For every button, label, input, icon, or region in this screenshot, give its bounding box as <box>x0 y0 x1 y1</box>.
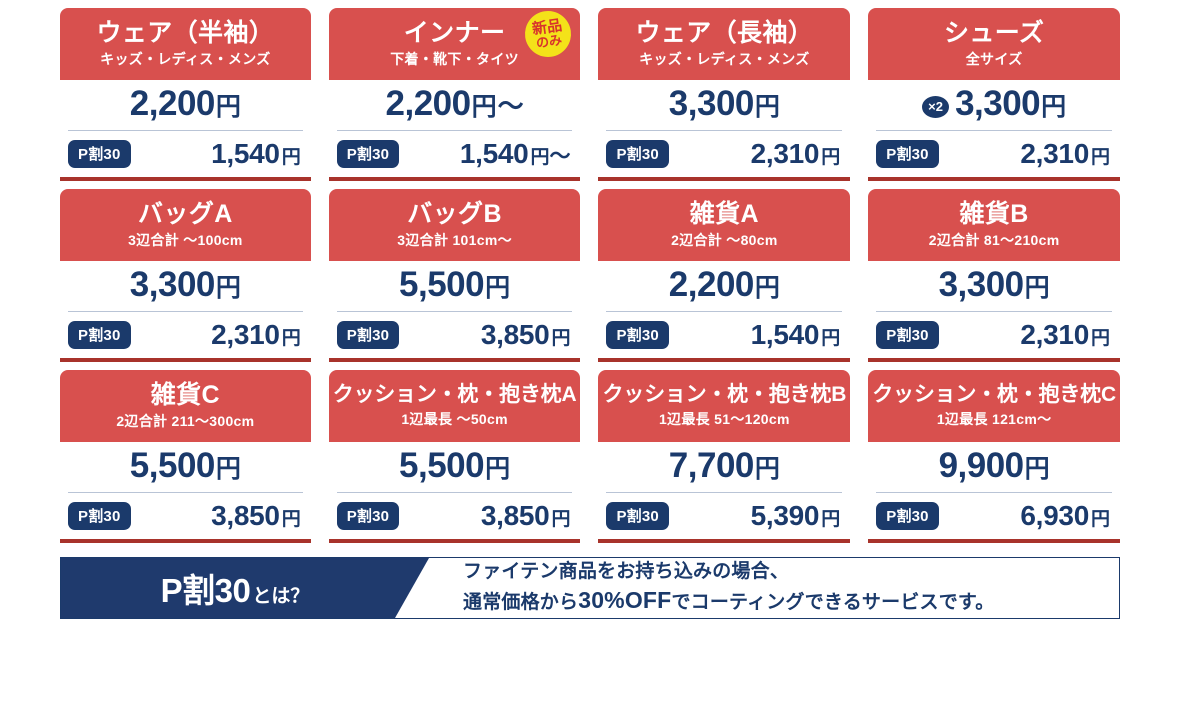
discount-price-currency: 円 <box>1091 323 1110 350</box>
price-card[interactable]: ウェア（半袖）キッズ・レディス・メンズ2,200円P割301,540円 <box>60 8 311 181</box>
regular-price-currency: 円 <box>1025 449 1050 485</box>
discount-price-currency: 円 <box>530 142 549 169</box>
price-card-subtitle: 2辺合計 〜80cm <box>671 232 777 249</box>
discount-price-row: P割301,540円 <box>66 131 305 176</box>
regular-price-amount: 2,200 <box>386 84 471 124</box>
p30-line2-post: でコーティングできるサービスです。 <box>671 592 994 613</box>
p30-pill-badge: P割30 <box>606 140 669 168</box>
discount-price-amount: 5,390 <box>751 500 820 532</box>
discount-price-row: P割302,310円 <box>874 131 1114 176</box>
price-card-bottom-rule <box>868 358 1120 362</box>
price-card-body: 5,500円P割303,850円 <box>329 261 581 357</box>
regular-price-currency: 円 <box>216 268 241 304</box>
price-card[interactable]: ウェア（長袖）キッズ・レディス・メンズ3,300円P割302,310円 <box>598 8 850 181</box>
discount-price-amount: 2,310 <box>1020 319 1089 351</box>
p30-pill-badge: P割30 <box>337 502 400 530</box>
discount-price-amount: 3,850 <box>481 319 550 351</box>
price-card-bottom-rule <box>598 358 850 362</box>
regular-price-row: 2,200円 <box>604 265 844 310</box>
price-card-header: バッグA3辺合計 〜100cm <box>60 189 311 261</box>
regular-price-currency: 円 <box>472 87 497 123</box>
price-card[interactable]: クッション・枕・抱き枕B1辺最長 51〜120cm7,700円P割305,390… <box>598 370 850 543</box>
discount-price-currency: 円 <box>551 504 570 531</box>
discount-price-value: 1,540円 <box>751 319 843 351</box>
discount-price-currency: 円 <box>551 323 570 350</box>
price-card-title: 雑貨A <box>690 200 759 228</box>
price-card[interactable]: 雑貨C2辺合計 211〜300cm5,500円P割303,850円 <box>60 370 311 543</box>
price-card-bottom-rule <box>598 177 850 181</box>
price-card-header: クッション・枕・抱き枕B1辺最長 51〜120cm <box>598 370 850 442</box>
regular-price-amount: 3,300 <box>130 265 215 305</box>
price-card-body: 9,900円P割306,930円 <box>868 442 1120 538</box>
discount-price-value: 6,930円 <box>1020 500 1112 532</box>
price-card-subtitle: 1辺最長 〜50cm <box>401 411 507 428</box>
regular-price-row: 3,300円 <box>66 265 305 310</box>
price-card-bottom-rule <box>868 539 1120 543</box>
regular-price-currency: 円 <box>1041 87 1066 123</box>
discount-price-row: P割303,850円 <box>335 312 575 357</box>
price-card[interactable]: インナー下着・靴下・タイツ新品のみ2,200円〜P割301,540円〜 <box>329 8 581 181</box>
price-card[interactable]: バッグA3辺合計 〜100cm3,300円P割302,310円 <box>60 189 311 362</box>
regular-price-amount: 9,900 <box>939 446 1024 486</box>
regular-price-amount: 7,700 <box>669 446 754 486</box>
price-card-title: ウェア（半袖） <box>96 19 274 47</box>
discount-price-amount: 2,310 <box>1020 138 1089 170</box>
regular-price-row: 5,500円 <box>335 265 575 310</box>
price-card-body: 5,500円P割303,850円 <box>329 442 581 538</box>
regular-price-amount: 2,200 <box>130 84 215 124</box>
price-card-subtitle: キッズ・レディス・メンズ <box>639 51 809 68</box>
price-card-body: 2,200円〜P割301,540円〜 <box>329 80 581 176</box>
discount-price-value: 3,850円 <box>211 500 303 532</box>
discount-price-value: 2,310円 <box>751 138 843 170</box>
discount-price-amount: 2,310 <box>211 319 280 351</box>
discount-price-row: P割303,850円 <box>66 493 305 538</box>
price-card-title: クッション・枕・抱き枕A <box>333 383 577 407</box>
discount-price-value: 5,390円 <box>751 500 843 532</box>
discount-price-value: 2,310円 <box>1020 138 1112 170</box>
price-card[interactable]: クッション・枕・抱き枕A1辺最長 〜50cm5,500円P割303,850円 <box>329 370 581 543</box>
regular-price-amount: 5,500 <box>399 446 484 486</box>
regular-price-currency: 円 <box>755 449 780 485</box>
p30-description-line2: 通常価格から30%OFFでコーティングできるサービスです。 <box>463 585 1119 617</box>
discount-price-value: 3,850円 <box>481 500 573 532</box>
discount-price-value: 2,310円 <box>211 319 303 351</box>
p30-pill-badge: P割30 <box>68 321 131 349</box>
regular-price-amount: 3,300 <box>669 84 754 124</box>
price-card[interactable]: バッグB3辺合計 101cm〜5,500円P割303,850円 <box>329 189 581 362</box>
price-card-body: 7,700円P割305,390円 <box>598 442 850 538</box>
price-card-header: クッション・枕・抱き枕C1辺最長 121cm〜 <box>868 370 1120 442</box>
discount-price-value: 2,310円 <box>1020 319 1112 351</box>
p30-pill-badge: P割30 <box>876 140 939 168</box>
regular-price-row: 3,300円 <box>874 265 1114 310</box>
price-card-title: クッション・枕・抱き枕C <box>872 383 1116 407</box>
p30-pill-badge: P割30 <box>606 502 669 530</box>
discount-price-row: P割302,310円 <box>874 312 1114 357</box>
p30-pill-badge: P割30 <box>876 502 939 530</box>
price-card-header: クッション・枕・抱き枕A1辺最長 〜50cm <box>329 370 581 442</box>
p30-explainer-banner: P割30 とは？ ファイテン商品をお持ち込みの場合、 通常価格から30%OFFで… <box>60 557 1120 619</box>
discount-price-amount: 1,540 <box>211 138 280 170</box>
regular-price-amount: 3,300 <box>955 84 1040 124</box>
regular-price-row: 2,200円 <box>66 84 305 129</box>
price-card[interactable]: 雑貨B2辺合計 81〜210cm3,300円P割302,310円 <box>868 189 1120 362</box>
discount-price-currency: 円 <box>821 142 840 169</box>
price-card-header: ウェア（長袖）キッズ・レディス・メンズ <box>598 8 850 80</box>
price-card-header: ウェア（半袖）キッズ・レディス・メンズ <box>60 8 311 80</box>
price-card-header: バッグB3辺合計 101cm〜 <box>329 189 581 261</box>
regular-price-amount: 5,500 <box>399 265 484 305</box>
price-card[interactable]: シューズ全サイズ×23,300円P割302,310円 <box>868 8 1120 181</box>
discount-price-amount: 6,930 <box>1020 500 1089 532</box>
discount-price-row: P割301,540円 <box>604 312 844 357</box>
price-card-subtitle: 3辺合計 101cm〜 <box>397 232 512 249</box>
discount-price-currency: 円 <box>1091 142 1110 169</box>
price-card-body: 5,500円P割303,850円 <box>60 442 311 538</box>
discount-price-row: P割302,310円 <box>604 131 844 176</box>
p30-label-small: とは？ <box>252 581 309 608</box>
regular-price-row: 9,900円 <box>874 446 1114 491</box>
discount-price-currency: 円 <box>282 504 301 531</box>
price-card-bottom-rule <box>329 358 581 362</box>
price-card-subtitle: 2辺合計 211〜300cm <box>116 413 254 430</box>
price-card[interactable]: クッション・枕・抱き枕C1辺最長 121cm〜9,900円P割306,930円 <box>868 370 1120 543</box>
discount-price-row: P割302,310円 <box>66 312 305 357</box>
discount-price-value: 1,540円 <box>211 138 303 170</box>
price-card-body: ×23,300円P割302,310円 <box>868 80 1120 176</box>
price-card-bottom-rule <box>329 539 581 543</box>
regular-price-currency: 円 <box>755 87 780 123</box>
price-table-sheet: ウェア（半袖）キッズ・レディス・メンズ2,200円P割301,540円インナー下… <box>0 0 1180 705</box>
price-card-bottom-rule <box>598 539 850 543</box>
regular-price-amount: 2,200 <box>669 265 754 305</box>
price-card-body: 2,200円P割301,540円 <box>598 261 850 357</box>
regular-price-amount: 3,300 <box>939 265 1024 305</box>
price-card-title: 雑貨B <box>959 200 1028 228</box>
price-card-body: 2,200円P割301,540円 <box>60 80 311 176</box>
regular-price-row: 5,500円 <box>66 446 305 491</box>
price-card-subtitle: 1辺最長 51〜120cm <box>659 411 790 428</box>
regular-price-amount: 5,500 <box>130 446 215 486</box>
regular-price-currency: 円 <box>755 268 780 304</box>
regular-price-row: 5,500円 <box>335 446 575 491</box>
price-card-subtitle: キッズ・レディス・メンズ <box>100 51 270 68</box>
price-card-subtitle: 3辺合計 〜100cm <box>128 232 243 249</box>
regular-price-row: 2,200円〜 <box>335 84 575 129</box>
discount-price-amount: 1,540 <box>751 319 820 351</box>
p30-description: ファイテン商品をお持ち込みの場合、 通常価格から30%OFFでコーティングできる… <box>429 558 1119 618</box>
price-card-header: インナー下着・靴下・タイツ新品のみ <box>329 8 581 80</box>
discount-price-amount: 2,310 <box>751 138 820 170</box>
new-only-badge: 新品のみ <box>522 8 574 60</box>
price-card-header: 雑貨C2辺合計 211〜300cm <box>60 370 311 442</box>
regular-price-row: 7,700円 <box>604 446 844 491</box>
price-card-header: 雑貨B2辺合計 81〜210cm <box>868 189 1120 261</box>
regular-price-currency: 円 <box>1025 268 1050 304</box>
regular-price-row: ×23,300円 <box>874 84 1114 129</box>
discount-price-value: 1,540円〜 <box>460 138 573 170</box>
discount-price-value: 3,850円 <box>481 319 573 351</box>
price-card-subtitle: 2辺合計 81〜210cm <box>929 232 1060 249</box>
price-card-subtitle: 全サイズ <box>966 51 1023 68</box>
p30-line2-pre: 通常価格から <box>463 592 578 613</box>
discount-price-amount: 3,850 <box>211 500 280 532</box>
price-card-title: クッション・枕・抱き枕B <box>602 383 846 407</box>
times-two-icon: ×2 <box>922 96 949 118</box>
price-card-subtitle: 下着・靴下・タイツ <box>390 51 519 68</box>
price-card-body: 3,300円P割302,310円 <box>868 261 1120 357</box>
p30-line2-emphasis: 30%OFF <box>578 587 671 613</box>
regular-price-row: 3,300円 <box>604 84 844 129</box>
discount-price-amount: 3,850 <box>481 500 550 532</box>
price-card-subtitle: 1辺最長 121cm〜 <box>937 411 1052 428</box>
discount-price-currency: 円 <box>1091 504 1110 531</box>
price-card-title: バッグA <box>138 200 233 228</box>
price-card-bottom-rule <box>60 358 311 362</box>
price-card[interactable]: 雑貨A2辺合計 〜80cm2,200円P割301,540円 <box>598 189 850 362</box>
p30-pill-badge: P割30 <box>337 321 400 349</box>
price-card-bottom-rule <box>60 539 311 543</box>
regular-price-currency: 円 <box>216 449 241 485</box>
price-card-title: インナー <box>404 19 506 47</box>
regular-price-suffix: 〜 <box>498 86 524 123</box>
p30-pill-badge: P割30 <box>68 140 131 168</box>
price-card-title: 雑貨C <box>151 381 220 409</box>
discount-price-row: P割306,930円 <box>874 493 1114 538</box>
discount-price-suffix: 〜 <box>549 140 570 170</box>
p30-pill-badge: P割30 <box>606 321 669 349</box>
price-card-body: 3,300円P割302,310円 <box>598 80 850 176</box>
discount-price-row: P割301,540円〜 <box>335 131 575 176</box>
discount-price-currency: 円 <box>821 323 840 350</box>
price-card-bottom-rule <box>60 177 311 181</box>
price-card-header: シューズ全サイズ <box>868 8 1120 80</box>
price-card-title: バッグB <box>407 200 502 228</box>
price-card-title: シューズ <box>944 19 1044 47</box>
p30-pill-badge: P割30 <box>337 140 400 168</box>
p30-label-big: P割30 <box>161 564 251 612</box>
price-card-body: 3,300円P割302,310円 <box>60 261 311 357</box>
p30-pill-badge: P割30 <box>68 502 131 530</box>
discount-price-row: P割303,850円 <box>335 493 575 538</box>
discount-price-currency: 円 <box>821 504 840 531</box>
regular-price-currency: 円 <box>485 268 510 304</box>
discount-price-amount: 1,540 <box>460 138 529 170</box>
price-card-grid: ウェア（半袖）キッズ・レディス・メンズ2,200円P割301,540円インナー下… <box>60 8 1120 543</box>
price-card-header: 雑貨A2辺合計 〜80cm <box>598 189 850 261</box>
p30-description-line1: ファイテン商品をお持ち込みの場合、 <box>463 559 1119 585</box>
price-card-bottom-rule <box>868 177 1120 181</box>
p30-label-block: P割30 とは？ <box>61 558 429 618</box>
p30-pill-badge: P割30 <box>876 321 939 349</box>
regular-price-currency: 円 <box>216 87 241 123</box>
discount-price-currency: 円 <box>282 142 301 169</box>
discount-price-currency: 円 <box>282 323 301 350</box>
new-only-badge-line2: のみ <box>536 33 564 50</box>
regular-price-currency: 円 <box>485 449 510 485</box>
price-card-bottom-rule <box>329 177 581 181</box>
discount-price-row: P割305,390円 <box>604 493 844 538</box>
p30-label-text: P割30 とは？ <box>161 564 310 612</box>
price-card-title: ウェア（長袖） <box>635 19 813 47</box>
